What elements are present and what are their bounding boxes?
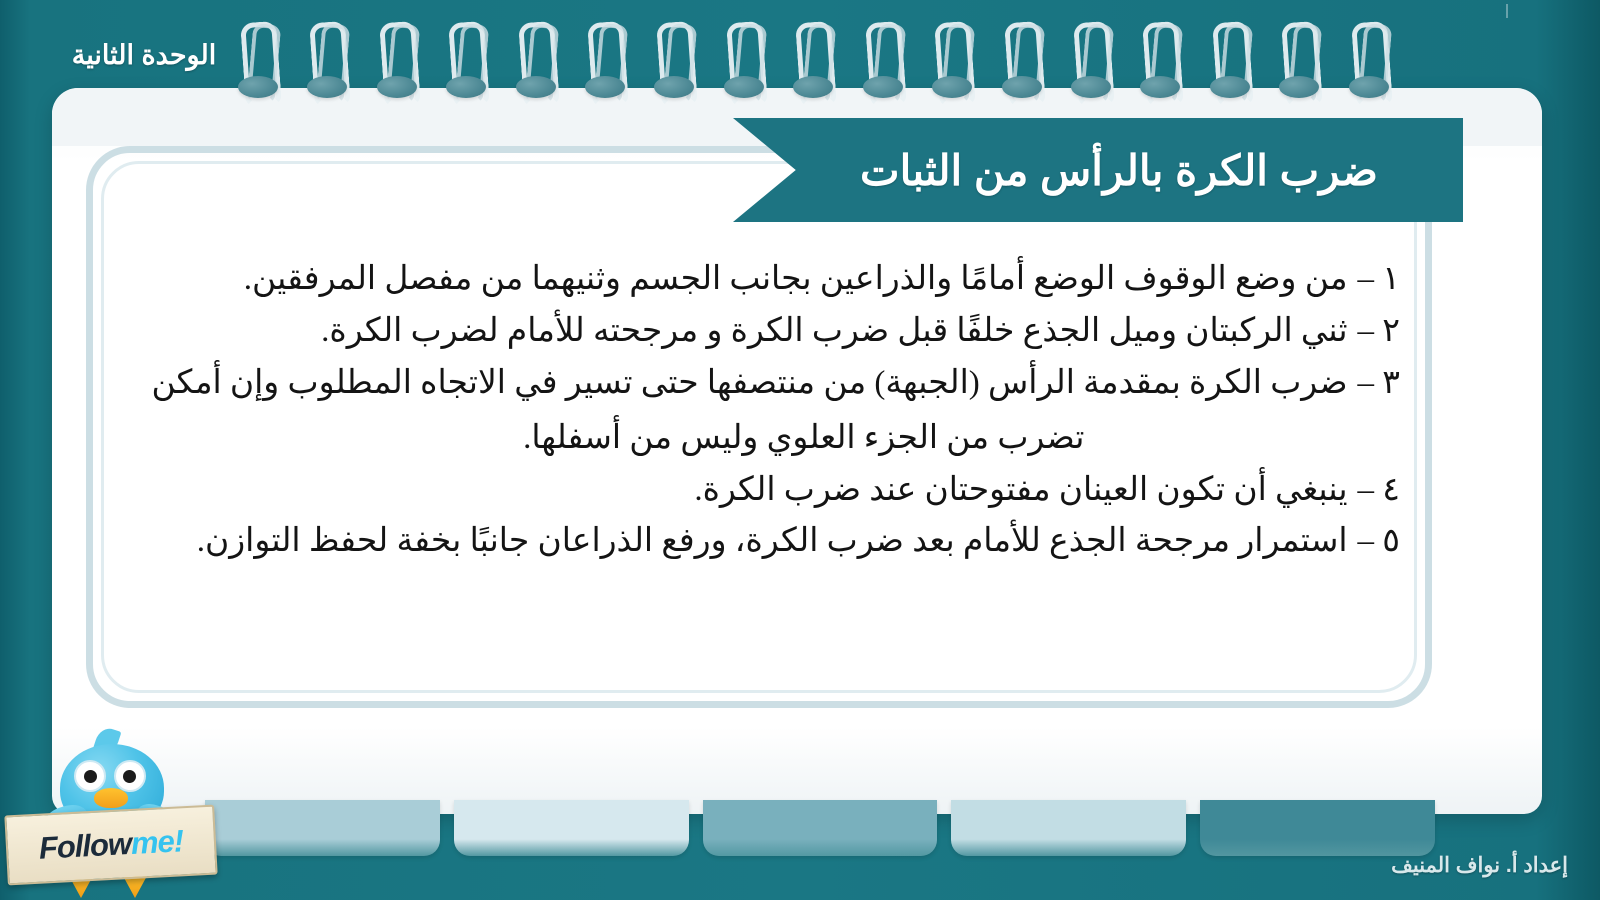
- spiral-ring: [444, 14, 490, 110]
- step-text-line: ضرب الكرة بمقدمة الرأس (الجبهة) من منتصف…: [110, 362, 1348, 405]
- step-number: ٣ –: [1358, 362, 1400, 405]
- spiral-ring: [652, 14, 698, 110]
- bottom-tab-strip: [205, 800, 1435, 858]
- spiral-ring: [930, 14, 976, 110]
- bird-beak: [94, 788, 128, 808]
- bottom-tab[interactable]: [703, 800, 938, 856]
- spiral-ring: [1138, 14, 1184, 110]
- bird-eye-left: [74, 760, 106, 792]
- step-number: ١ –: [1358, 258, 1400, 301]
- bottom-tab[interactable]: [205, 800, 440, 856]
- step-item: ٣ –ضرب الكرة بمقدمة الرأس (الجبهة) من من…: [110, 362, 1400, 460]
- title-banner: ضرب الكرة بالرأس من الثبات: [733, 118, 1463, 222]
- spiral-ring: [1347, 14, 1393, 110]
- unit-label: الوحدة الثانية: [44, 40, 244, 71]
- step-text: ضرب الكرة بمقدمة الرأس (الجبهة) من منتصف…: [110, 362, 1348, 460]
- spiral-ring: [583, 14, 629, 110]
- step-number: ٤ –: [1358, 469, 1400, 512]
- bottom-tab[interactable]: [1200, 800, 1435, 856]
- step-number: ٢ –: [1358, 310, 1400, 353]
- corner-tick-mark: [1506, 4, 1508, 18]
- spiral-ring: [1208, 14, 1254, 110]
- spiral-ring: [375, 14, 421, 110]
- spiral-ring: [1000, 14, 1046, 110]
- step-number: ٥ –: [1358, 520, 1400, 563]
- step-text-line: ينبغي أن تكون العينان مفتوحتان عند ضرب ا…: [220, 469, 1348, 512]
- step-text: ثني الركبتان وميل الجذع خلفًا قبل ضرب ال…: [110, 310, 1348, 353]
- step-text: ينبغي أن تكون العينان مفتوحتان عند ضرب ا…: [110, 469, 1348, 512]
- spiral-ring: [1069, 14, 1115, 110]
- spiral-ring: [861, 14, 907, 110]
- spiral-ring: [1277, 14, 1323, 110]
- bottom-tab[interactable]: [951, 800, 1186, 856]
- step-text: استمرار مرجحة الجذع للأمام بعد ضرب الكرة…: [110, 520, 1348, 563]
- author-credit: إعداد أ. نواف المنيف: [1391, 853, 1568, 878]
- step-text-line: من وضع الوقوف الوضع أمامًا والذراعين بجا…: [110, 258, 1348, 301]
- bird-eye-right: [114, 760, 146, 792]
- spiral-ring: [722, 14, 768, 110]
- slide-canvas: الوحدة الثانية ضرب الكرة بالرأس من الثبا…: [0, 0, 1600, 900]
- step-text-line: ثني الركبتان وميل الجذع خلفًا قبل ضرب ال…: [160, 310, 1348, 353]
- steps-list: ١ –من وضع الوقوف الوضع أمامًا والذراعين …: [110, 258, 1400, 572]
- step-text-line: استمرار مرجحة الجذع للأمام بعد ضرب الكرة…: [110, 520, 1348, 563]
- step-item: ٢ –ثني الركبتان وميل الجذع خلفًا قبل ضرب…: [110, 310, 1400, 353]
- step-text: من وضع الوقوف الوضع أمامًا والذراعين بجا…: [110, 258, 1348, 301]
- step-item: ١ –من وضع الوقوف الوضع أمامًا والذراعين …: [110, 258, 1400, 301]
- page-title: ضرب الكرة بالرأس من الثبات: [790, 146, 1406, 195]
- spiral-ring: [791, 14, 837, 110]
- spiral-binding: [236, 14, 1416, 114]
- step-item: ٤ –ينبغي أن تكون العينان مفتوحتان عند ضر…: [110, 469, 1400, 512]
- follow-me-badge[interactable]: Followme!: [6, 724, 218, 894]
- follow-label: Follow: [38, 826, 132, 866]
- bottom-tab[interactable]: [454, 800, 689, 856]
- spiral-ring: [236, 14, 282, 110]
- me-label: me!: [130, 823, 184, 861]
- spiral-ring: [305, 14, 351, 110]
- spiral-ring: [514, 14, 560, 110]
- follow-me-sign[interactable]: Followme!: [4, 805, 217, 886]
- step-item: ٥ –استمرار مرجحة الجذع للأمام بعد ضرب ال…: [110, 520, 1400, 563]
- step-text-continuation: تضرب من الجزء العلوي وليس من أسفلها.: [110, 417, 1348, 460]
